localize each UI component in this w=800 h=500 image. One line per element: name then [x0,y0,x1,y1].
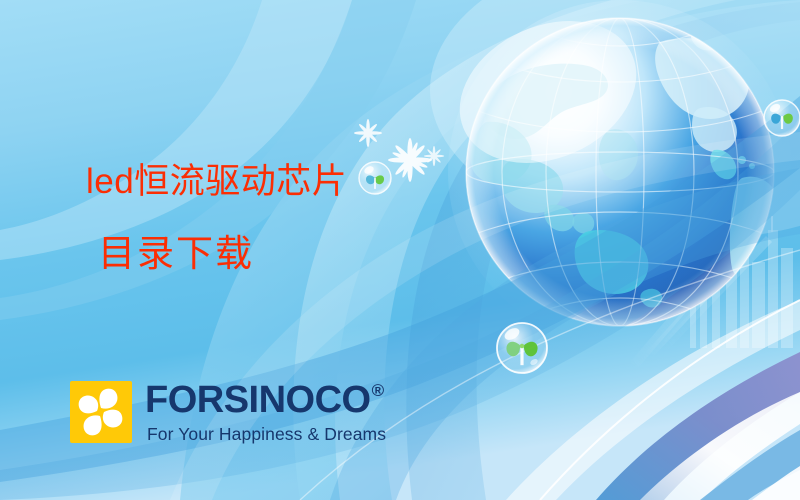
bubble-pinwheel-center [497,323,547,373]
logo-wordmark: FORSINOCO [145,381,371,419]
bubble-pinwheel-left [359,162,391,194]
logo-wordmark-row: FORSINOCO ® [145,381,386,419]
four-petal-flower-mark [70,381,132,443]
logo-tagline: For Your Happiness & Dreams [147,426,386,444]
registered-trademark-icon: ® [372,382,384,399]
headline-block: led恒流驱动芯片 目录下载 [86,160,347,278]
promo-banner: led恒流驱动芯片 目录下载 FORSINOCO ® For Your Happ… [0,0,800,500]
logo-text-block: FORSINOCO ® For Your Happiness & Dreams [145,381,386,444]
headline-line-1: led恒流驱动芯片 [86,160,347,205]
flower-petals-icon [70,381,132,443]
bubble-pinwheel-right [764,100,800,136]
brand-logo-lockup: FORSINOCO ® For Your Happiness & Dreams [70,381,386,444]
headline-line-2: 目录下载 [98,231,347,278]
